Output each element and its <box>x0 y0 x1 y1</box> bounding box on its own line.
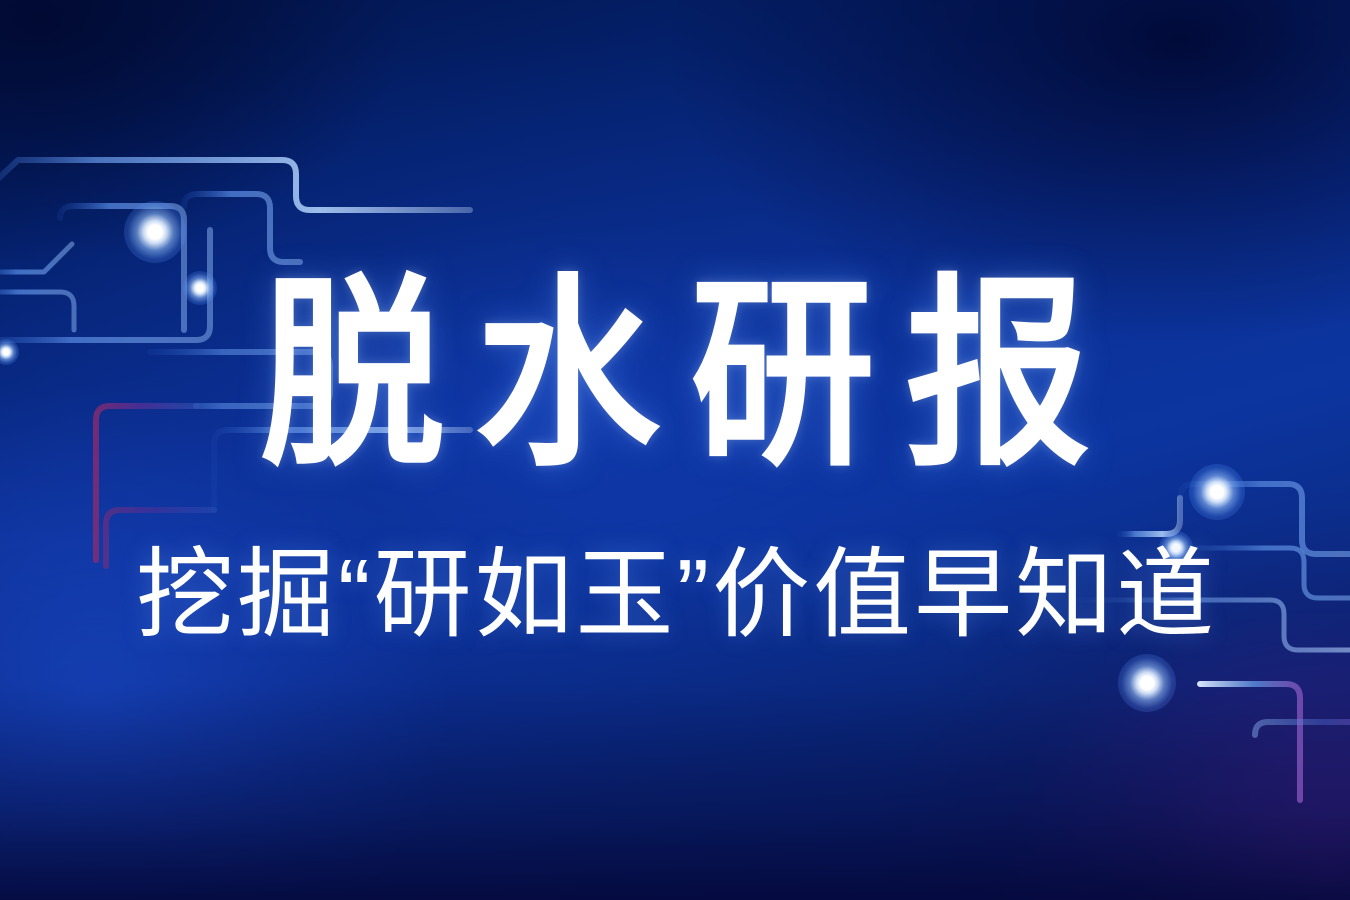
page-title: 脱水研报 <box>68 268 1283 483</box>
poster-canvas: 脱水研报 挖掘“研如玉”价值早知道 <box>0 0 1350 900</box>
page-subtitle: 挖掘“研如玉”价值早知道 <box>0 534 1350 654</box>
brand-text-block: 脱水研报 挖掘“研如玉”价值早知道 <box>0 0 1350 900</box>
